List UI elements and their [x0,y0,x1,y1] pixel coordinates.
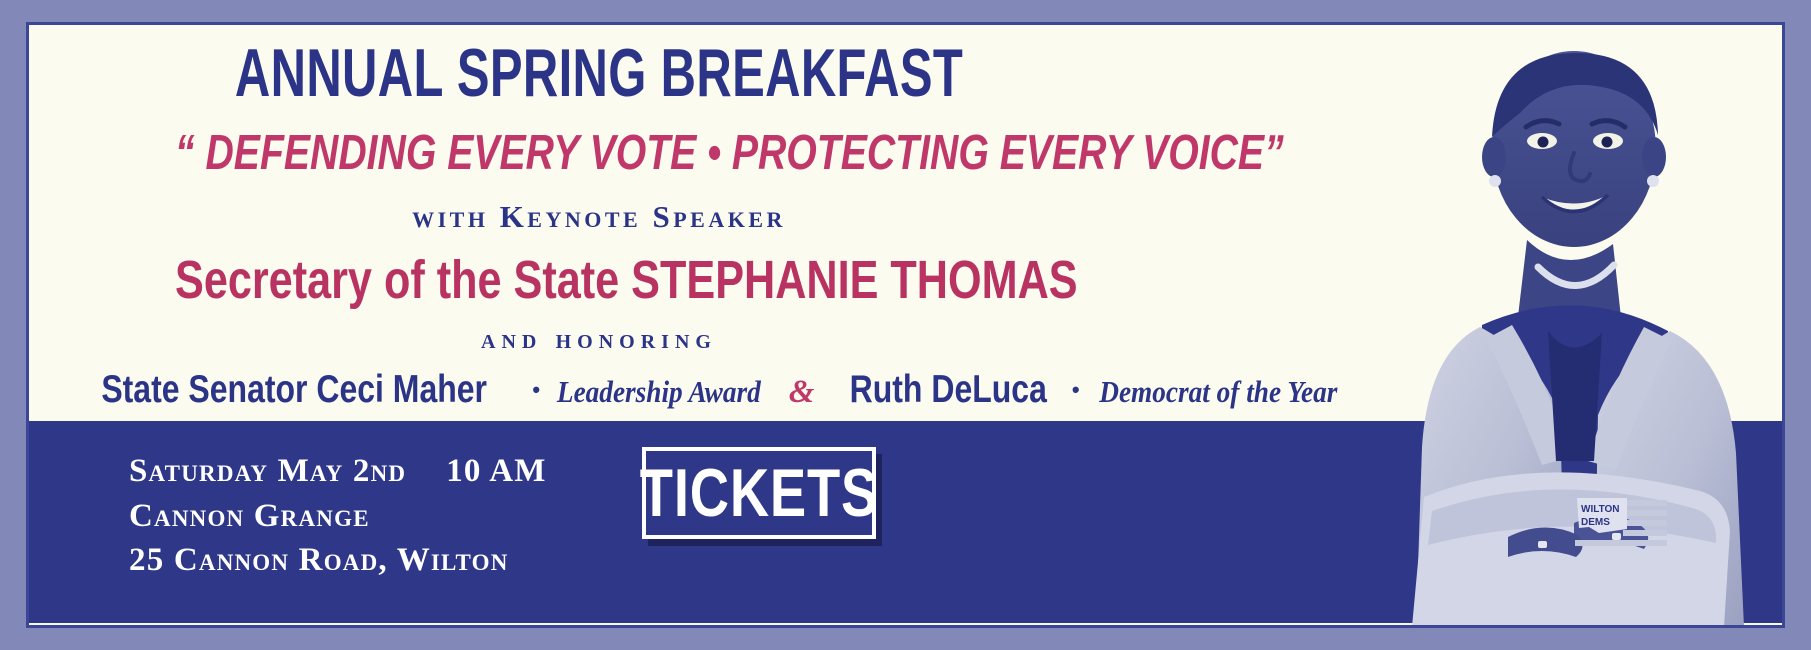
honoree-award: Democrat of the Year [1099,376,1337,407]
honoree-separator-icon: • [1069,377,1083,402]
tickets-button[interactable]: TICKETS [642,447,876,539]
honoree-separator-icon: • [529,377,543,402]
event-venue: Cannon Grange [129,494,547,539]
event-time: 10 AM [406,453,546,489]
banner-tagline: “ DEFENDING EVERY VOTE • PROTECTING EVER… [175,129,1023,178]
banner-inner-frame: ANNUAL SPRING BREAKFAST “ DEFENDING EVER… [26,22,1785,628]
page-title: ANNUAL SPRING BREAKFAST [217,39,980,107]
honoree-award: Leadership Award [557,376,761,407]
event-details: Saturday May 2nd10 AM Cannon Grange 25 C… [129,449,547,583]
logo-line1: WILTON [1581,504,1620,515]
honorees-list: State Senator Ceci Maher•Leadership Awar… [59,370,1139,409]
honoree-name: Ruth DeLuca [850,370,1047,409]
wilton-dems-logo: WILTON DEMS [1569,495,1669,553]
keynote-speaker-name: Secretary of the State STEPHANIE THOMAS [175,253,1023,307]
keynote-speaker-label: with Keynote Speaker [69,201,1129,232]
event-address: 25 Cannon Road, Wilton [129,538,547,583]
event-banner: ANNUAL SPRING BREAKFAST “ DEFENDING EVER… [0,0,1811,650]
tickets-button-label: TICKETS [640,459,878,527]
honoring-label: and honoring [69,325,1129,354]
tickets-button-box[interactable]: TICKETS [642,447,876,539]
logo-line2: DEMS [1581,517,1610,528]
honorees-conjunction: & [775,374,829,410]
honoree-name: State Senator Ceci Maher [101,370,487,409]
event-date-line: Saturday May 2nd10 AM [129,449,547,494]
event-date: Saturday May 2nd [129,453,406,489]
